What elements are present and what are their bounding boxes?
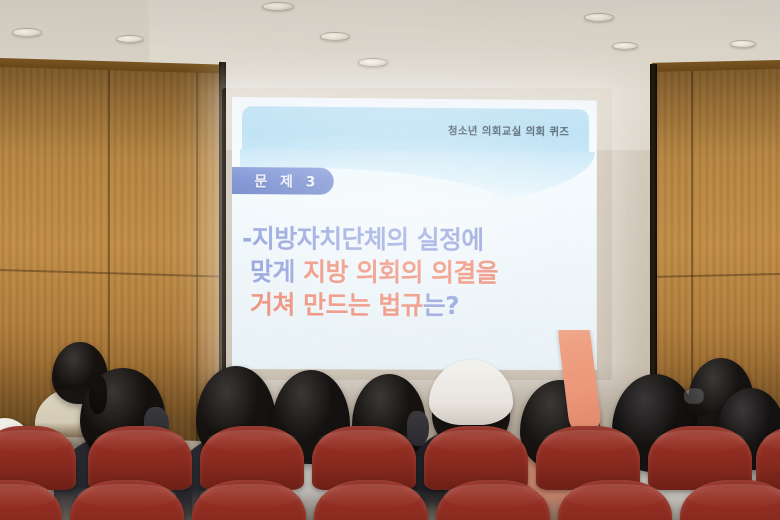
question-line: -지방자치단체의 실정에 (238, 223, 591, 258)
ceiling-light (612, 42, 638, 50)
question-text-segment: 지방 의회의 의결을 (303, 257, 498, 287)
question-line: 거쳐 만드는 법규는? (238, 289, 591, 323)
question-text-segment: 맞게 (250, 257, 303, 286)
question-number-label: 문 제 3 (232, 171, 319, 192)
question-text-segment: 는? (423, 290, 459, 319)
question-text-segment: 거쳐 만드는 법규 (250, 290, 423, 320)
slide-header-title: 청소년 의회교실 의회 퀴즈 (448, 123, 569, 139)
question-number-badge: 문 제 3 (232, 167, 334, 195)
ceiling-light (584, 13, 614, 22)
ceiling-light (262, 2, 294, 11)
auditorium-photo: 청소년 의회교실 의회 퀴즈 문 제 3 -지방자치단체의 실정에맞게 지방 의… (0, 0, 780, 520)
ceiling-light (358, 58, 388, 67)
ceiling-light (320, 32, 350, 41)
audience-area (0, 330, 780, 520)
ceiling-light (12, 28, 42, 37)
ceiling-light (116, 35, 144, 43)
question-text-segment: -지방자치단체의 실정에 (242, 224, 484, 254)
question-text-block: -지방자치단체의 실정에맞게 지방 의회의 의결을거쳐 만드는 법규는? (238, 223, 591, 323)
student-masked-center-mask (407, 411, 429, 446)
student-white-cap-cap (429, 360, 513, 426)
student-glasses-right-glasses (684, 388, 704, 403)
ceiling-light (730, 40, 756, 48)
student-ponytail-striped-ponytail (89, 375, 107, 413)
question-line: 맞게 지방 의회의 의결을 (238, 256, 591, 291)
